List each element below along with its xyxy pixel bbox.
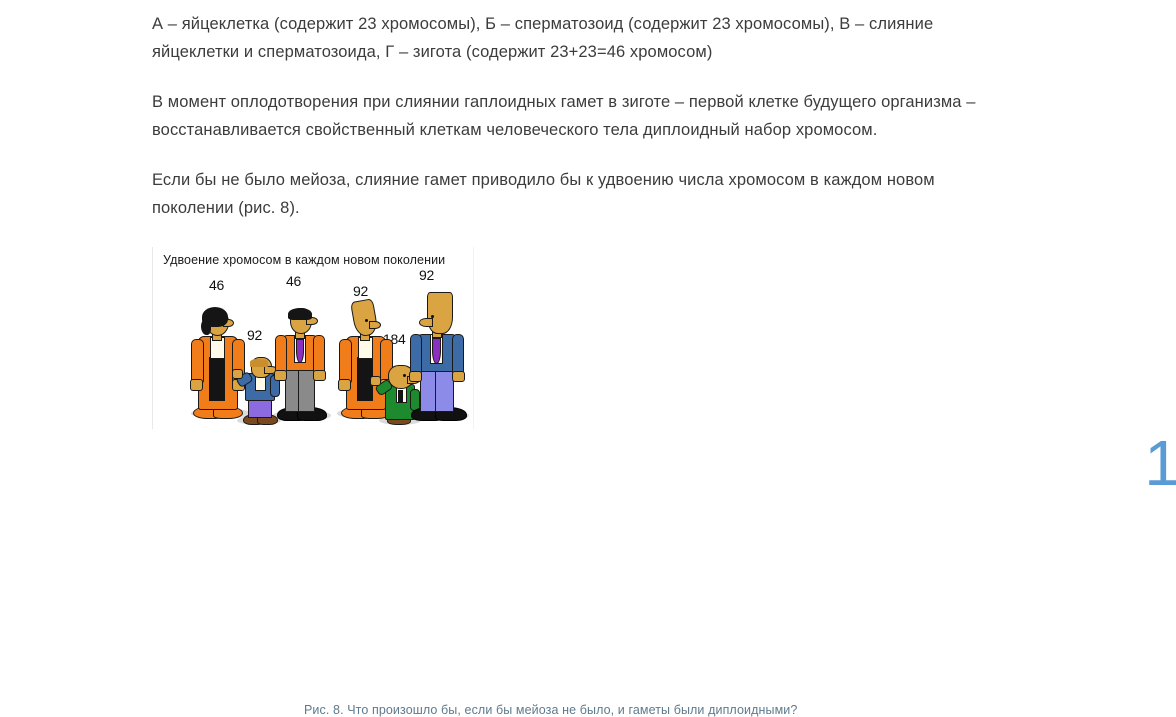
child-hand-raised (232, 369, 243, 379)
page-number-container: 1 (1136, 419, 1176, 489)
mother-hand-left (190, 379, 203, 391)
panel-no-meiosis: 92 92 184 (335, 275, 471, 425)
father-arm-left (410, 334, 422, 376)
figure-father (409, 289, 471, 421)
label-father-chromosomes: 92 (419, 267, 434, 283)
figure-8: Удвоение хромосом в каждом новом поколен… (152, 247, 482, 429)
child-hair (250, 359, 268, 367)
father-head-elongated (427, 292, 453, 334)
page-number: 1 (1144, 431, 1176, 489)
figure-father (273, 299, 333, 421)
father-tie (296, 339, 304, 363)
mother-nose (369, 321, 381, 329)
mother-hand-left (338, 379, 351, 391)
figure-caption: Рис. 8. Что произошло бы, если бы мейоза… (304, 703, 797, 717)
father-arm-right (452, 334, 464, 376)
child-hand-raised (370, 376, 381, 386)
father-hair (288, 308, 312, 320)
father-hand-left (274, 370, 287, 381)
father-arm-right (313, 335, 325, 375)
paragraph-2: В момент оплодотворения при слиянии гапл… (152, 66, 988, 144)
mother-hair-side (201, 319, 211, 335)
label-mother-chromosomes: 46 (209, 277, 224, 293)
father-arm-left (275, 335, 287, 375)
paragraph-1: А – яйцеклетка (содержит 23 хромосомы), … (152, 0, 988, 66)
mother-head-elongated (350, 298, 379, 337)
mother-dress (209, 357, 225, 401)
father-trouser-seam (298, 367, 299, 411)
figure-panels: 46 46 92 (153, 275, 475, 425)
paragraph-3: Если бы не было мейоза, слияние гамет пр… (152, 144, 988, 222)
child-eye (403, 374, 406, 377)
panel-normal-meiosis: 46 46 92 (161, 275, 331, 425)
label-father-chromosomes: 46 (286, 273, 301, 289)
mother-eye (365, 319, 368, 322)
article-body: А – яйцеклетка (содержит 23 хромосомы), … (152, 0, 988, 222)
figure-image: Удвоение хромосом в каждом новом поколен… (152, 247, 474, 429)
father-hand-right (313, 370, 326, 381)
father-eye (431, 315, 434, 318)
father-nose (419, 318, 433, 327)
father-tie (432, 338, 441, 364)
figure-title: Удвоение хромосом в каждом новом поколен… (163, 253, 445, 267)
father-trouser-seam (435, 368, 436, 411)
child-tie (398, 390, 403, 403)
father-hand-left (409, 371, 422, 382)
father-hand-right (452, 371, 465, 382)
